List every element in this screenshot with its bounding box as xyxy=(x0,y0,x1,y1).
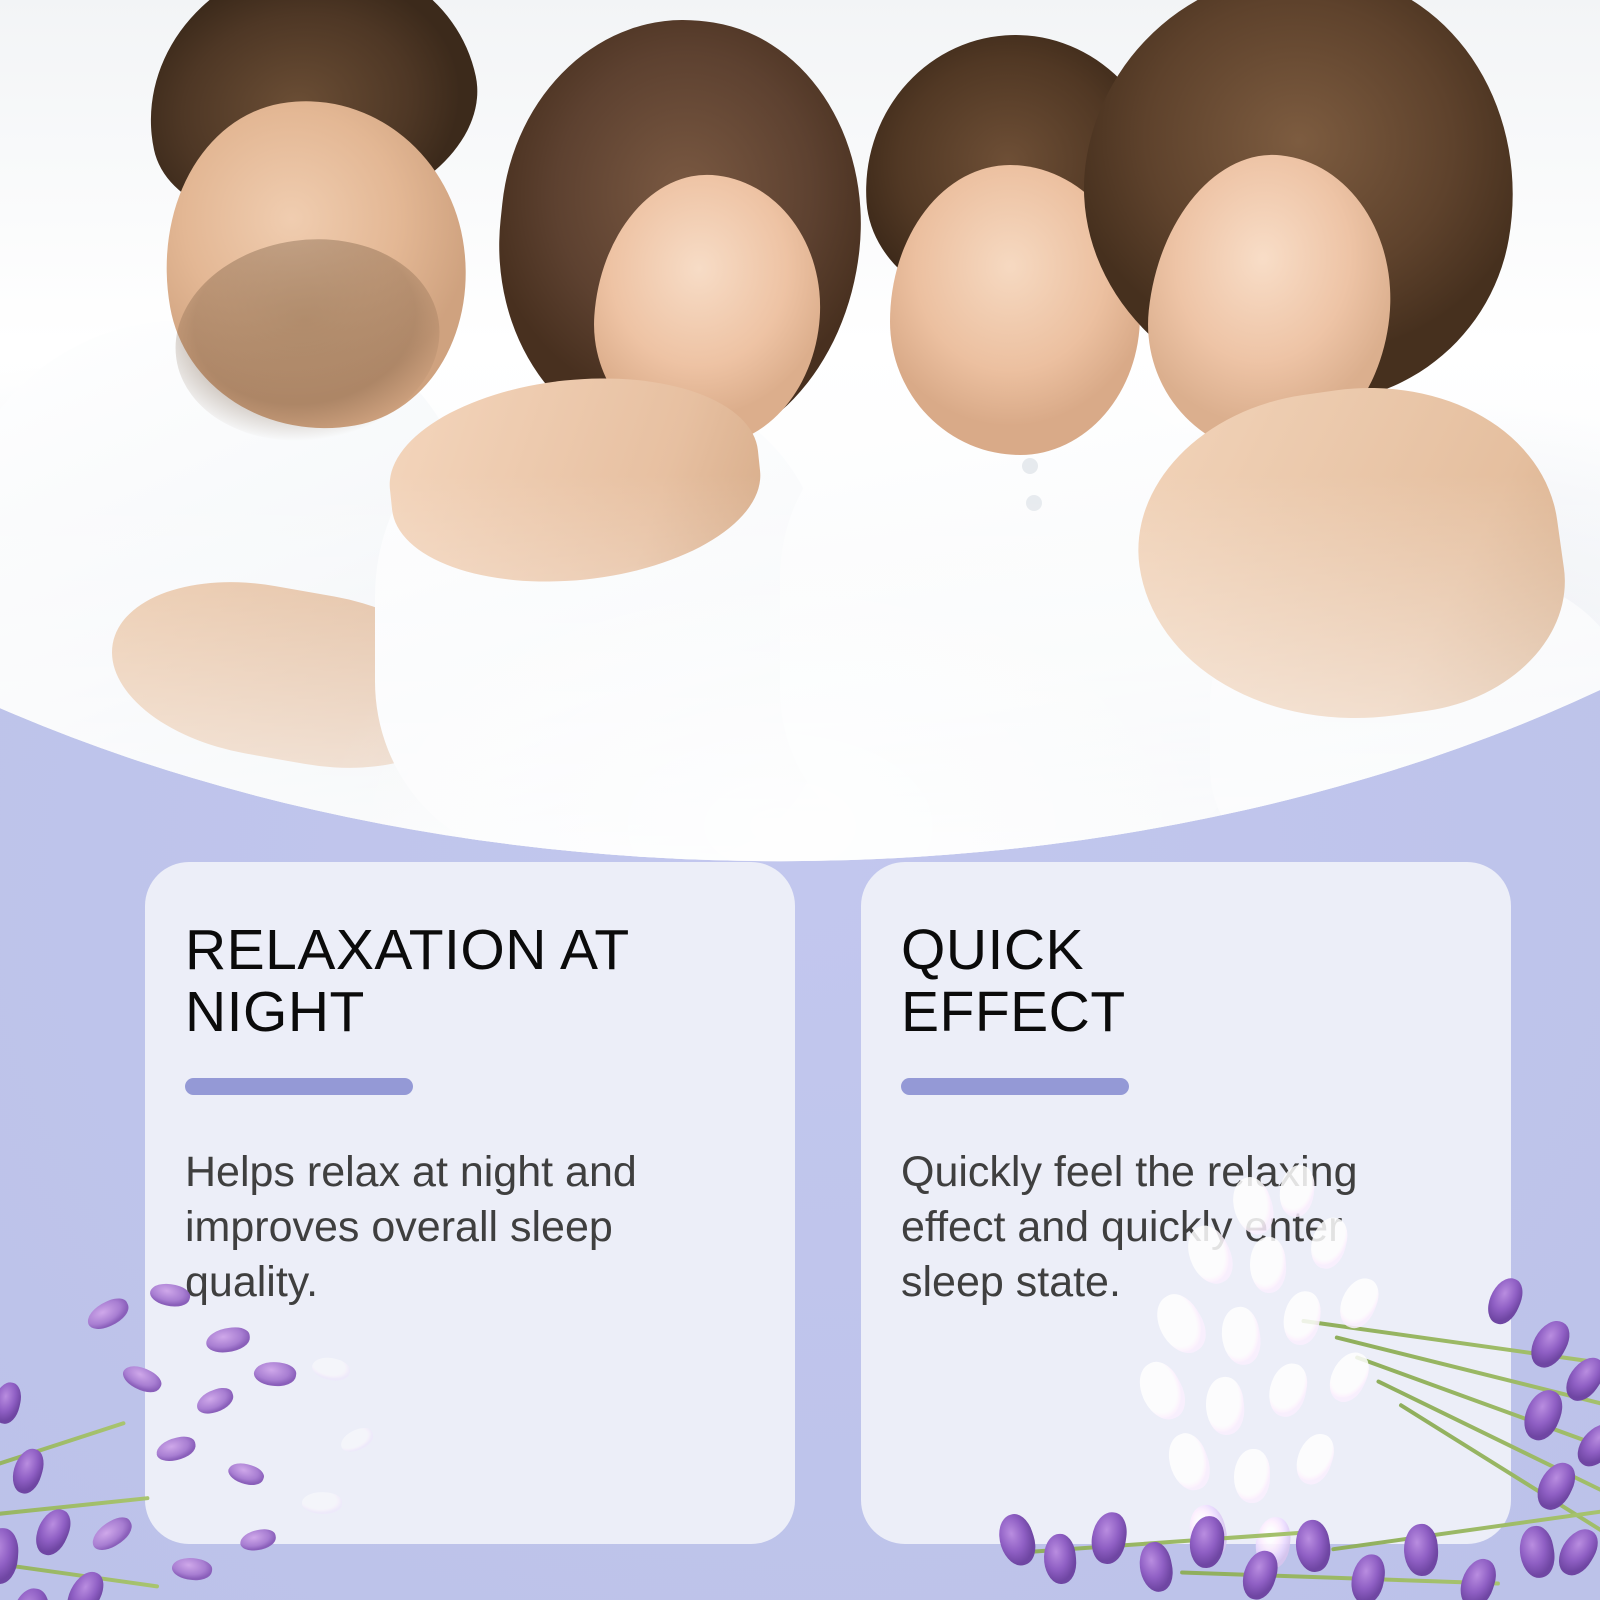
poster-canvas: RELAXATION AT NIGHT Helps relax at night… xyxy=(0,0,1600,1600)
hero-photo xyxy=(0,0,1600,870)
card-title: QUICK EFFECT xyxy=(901,920,1473,1043)
benefit-cards: RELAXATION AT NIGHT Helps relax at night… xyxy=(145,862,1511,1544)
card-title: RELAXATION AT NIGHT xyxy=(185,920,757,1043)
card-description: Quickly feel the relaxing effect and qui… xyxy=(901,1145,1441,1310)
card-description: Helps relax at night and improves overal… xyxy=(185,1145,705,1310)
boy-shirt-button xyxy=(1022,458,1038,474)
benefit-card-relaxation-at-night: RELAXATION AT NIGHT Helps relax at night… xyxy=(145,862,795,1544)
card-accent-rule xyxy=(901,1078,1129,1095)
benefit-card-quick-effect: QUICK EFFECT Quickly feel the relaxing e… xyxy=(861,862,1511,1544)
boy-shirt-button xyxy=(1026,495,1042,511)
card-accent-rule xyxy=(185,1078,413,1095)
